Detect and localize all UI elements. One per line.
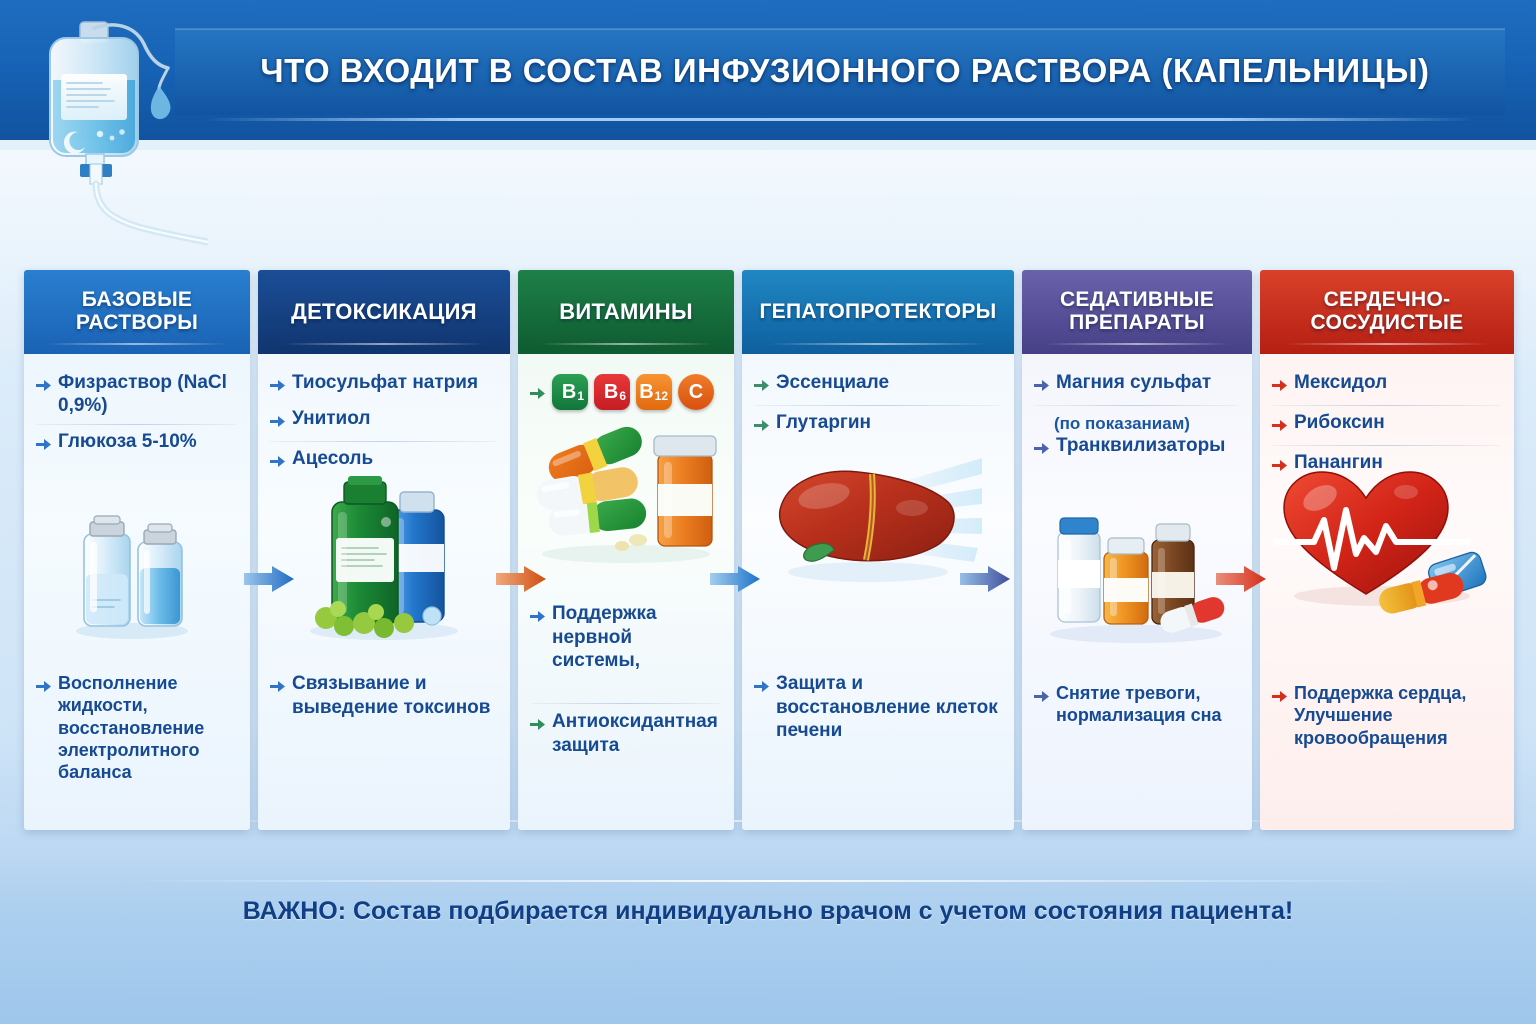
list-separator xyxy=(270,441,496,442)
list-item-label: Глюкоза 5-10% xyxy=(58,431,197,454)
list-item[interactable]: Мексидол xyxy=(1272,368,1500,404)
page-title: ЧТО ВХОДИТ В СОСТАВ ИНФУЗИОННОГО РАСТВОР… xyxy=(175,52,1515,90)
list-separator xyxy=(1272,405,1500,406)
list-item-label: Тиосульфат натрия xyxy=(292,372,478,395)
column-detox[interactable]: ДЕТОКСИКАЦИЯ Тиосульфат натрия Унитиол xyxy=(258,270,510,830)
column-title-line-1: СЕРДЕЧНО- xyxy=(1324,288,1451,311)
column-vitamins[interactable]: ВИТАМИНЫ B1 B6 B12 xyxy=(518,270,734,830)
vitamin-badge-b1[interactable]: B1 xyxy=(552,374,588,410)
list-item[interactable]: Транквилизаторы xyxy=(1034,434,1238,467)
arrow-bullet-icon xyxy=(36,435,51,458)
outcome-label: Связывание и выведение токсинов xyxy=(292,672,498,719)
column-header-detox: ДЕТОКСИКАЦИЯ xyxy=(258,270,510,354)
arrow-bullet-icon xyxy=(530,606,545,630)
list-item[interactable]: Тиосульфат натрия xyxy=(270,368,496,404)
connector-arrow-5 xyxy=(1216,562,1272,596)
list-item[interactable]: Глутаргин xyxy=(754,408,1000,444)
arrow-bullet-icon xyxy=(36,376,51,399)
list-item-label: Физраствор (NaCl 0,9%) xyxy=(58,372,236,418)
arrow-bullet-icon xyxy=(1034,439,1049,462)
two-glass-vials-illustration xyxy=(64,504,204,649)
outcome-sedatives: Снятие тревоги, нормализация сна xyxy=(1034,682,1240,727)
list-item-label: Рибоксин xyxy=(1294,412,1385,435)
footer-note: ВАЖНО: Состав подбирается индивидуально … xyxy=(0,897,1536,926)
column-sedatives[interactable]: СЕДАТИВНЫЕ ПРЕПАРАТЫ Магния сульфат (по … xyxy=(1022,270,1252,830)
vitamin-badge-b6[interactable]: B6 xyxy=(594,374,630,410)
column-header-base-solutions: БАЗОВЫЕ РАСТВОРЫ xyxy=(24,270,250,354)
list-item-label: Транквилизаторы xyxy=(1056,435,1225,458)
arrow-bullet-icon xyxy=(530,714,545,738)
arrow-bullet-icon xyxy=(1272,416,1287,439)
arrow-bullet-icon xyxy=(270,676,285,700)
footer-divider xyxy=(120,880,1416,882)
outcome-label: Поддержка сердца, Улучшение кровообращен… xyxy=(1294,682,1502,749)
arrow-bullet-icon xyxy=(270,452,285,475)
outcome-base-solutions: Восполнение жидкости, восстановление эле… xyxy=(36,672,238,784)
list-item[interactable]: Физраствор (NaCl 0,9%) xyxy=(36,368,236,423)
list-item[interactable]: Рибоксин xyxy=(1272,408,1500,444)
vitamin-badge-subscript: 1 xyxy=(577,390,584,402)
column-body-cardiovascular: Мексидол Рибоксин Панангин xyxy=(1260,354,1514,830)
list-item[interactable]: Глюкоза 5-10% xyxy=(36,427,236,463)
connector-arrow-4 xyxy=(960,562,1016,596)
vitamin-badge-c[interactable]: C xyxy=(678,374,714,410)
list-item-label: Эссенциале xyxy=(776,372,889,395)
list-separator xyxy=(1272,445,1500,446)
green-and-blue-bottles-illustration xyxy=(292,466,472,651)
vitamin-badge-b12[interactable]: B12 xyxy=(636,374,672,410)
vitamin-badge-letter: B xyxy=(604,380,618,404)
list-item[interactable]: Эссенциале xyxy=(754,368,1000,404)
outcome-label: Антиоксидантная защита xyxy=(552,710,722,757)
outcome-cardiovascular: Поддержка сердца, Улучшение кровообращен… xyxy=(1272,682,1502,749)
list-separator xyxy=(754,405,1000,406)
column-header-hepatoprotectors: ГЕПАТОПРОТЕКТОРЫ xyxy=(742,270,1014,354)
outcome-vitamins-1: Поддержка нервной системы, xyxy=(530,602,722,673)
connector-arrow-3 xyxy=(710,562,766,596)
arrow-bullet-icon xyxy=(1272,376,1287,399)
arrow-bullet-icon xyxy=(1034,686,1049,708)
column-title-line-1: ГЕПАТОПРОТЕКТОРЫ xyxy=(759,301,996,324)
header-underline xyxy=(205,118,1475,121)
column-header-vitamins: ВИТАМИНЫ xyxy=(518,270,734,354)
iv-drip-bag-icon xyxy=(18,14,208,274)
category-columns: БАЗОВЫЕ РАСТВОРЫ Физраствор (NaCl 0,9%) … xyxy=(24,270,1514,830)
arrow-bullet-icon xyxy=(1034,376,1049,399)
list-separator xyxy=(1034,405,1238,406)
column-title-line-1: ВИТАМИНЫ xyxy=(559,300,693,324)
list-item-label: Магния сульфат xyxy=(1056,372,1211,395)
arrow-bullet-icon xyxy=(754,676,769,700)
list-item-label: Мексидол xyxy=(1294,372,1387,395)
arrow-bullet-icon xyxy=(1272,686,1287,708)
arrow-bullet-icon xyxy=(754,416,769,439)
outcome-hepatoprotectors: Защита и восстановление клеток печени xyxy=(754,672,1002,743)
column-title-line-1: ДЕТОКСИКАЦИЯ xyxy=(291,300,477,324)
list-item[interactable]: Унитиол xyxy=(270,404,496,440)
connector-arrow-1 xyxy=(244,562,300,596)
outcome-label: Восполнение жидкости, восстановление эле… xyxy=(58,672,238,784)
outcome-label: Защита и восстановление клеток печени xyxy=(776,672,1002,743)
capsules-and-pill-bottle-illustration xyxy=(526,414,726,579)
arrow-bullet-icon xyxy=(754,376,769,399)
column-header-sedatives: СЕДАТИВНЫЕ ПРЕПАРАТЫ xyxy=(1022,270,1252,354)
arrow-bullet-icon xyxy=(270,376,285,399)
column-title-line-1: БАЗОВЫЕ xyxy=(82,288,193,311)
arrow-bullet-icon xyxy=(530,386,545,405)
assorted-medicine-bottles-illustration xyxy=(1036,494,1236,649)
list-separator xyxy=(36,424,236,425)
column-cardiovascular[interactable]: СЕРДЕЧНО- СОСУДИСТЫЕ Мексидол Рибоксин xyxy=(1260,270,1514,830)
outcome-label: Снятие тревоги, нормализация сна xyxy=(1056,682,1240,727)
outcome-vitamins-2: Антиоксидантная защита xyxy=(530,710,722,757)
column-title-line-2: ПРЕПАРАТЫ xyxy=(1069,311,1205,334)
outcome-detox: Связывание и выведение токсинов xyxy=(270,672,498,719)
heart-with-ecg-and-pills-illustration xyxy=(1270,464,1510,619)
connector-arrow-2 xyxy=(496,562,552,596)
outcome-label: Поддержка нервной системы, xyxy=(552,602,722,673)
column-title-line-2: РАСТВОРЫ xyxy=(76,311,198,334)
column-header-cardiovascular: СЕРДЕЧНО- СОСУДИСТЫЕ xyxy=(1260,270,1514,354)
column-title-line-2: СОСУДИСТЫЕ xyxy=(1311,311,1464,334)
column-base-solutions[interactable]: БАЗОВЫЕ РАСТВОРЫ Физраствор (NaCl 0,9%) … xyxy=(24,270,250,830)
arrow-bullet-icon xyxy=(270,412,285,435)
vitamin-badge-letter: B xyxy=(562,380,576,404)
vitamin-badge-subscript: 12 xyxy=(655,390,668,402)
column-hepatoprotectors[interactable]: ГЕПАТОПРОТЕКТОРЫ Эссенциале Глутаргин xyxy=(742,270,1014,830)
vitamin-badge-subscript: 6 xyxy=(619,390,626,402)
list-item-label: Унитиол xyxy=(292,408,370,431)
vitamin-badge-row[interactable]: B1 B6 B12 C xyxy=(530,368,720,415)
vitamin-badge-letter: C xyxy=(689,380,703,404)
column-body-base-solutions: Физраствор (NaCl 0,9%) Глюкоза 5-10% xyxy=(24,354,250,830)
vitamin-badge-letter: B xyxy=(639,380,653,404)
list-item[interactable]: Магния сульфат xyxy=(1034,368,1238,404)
arrow-bullet-icon xyxy=(36,676,51,698)
list-separator xyxy=(532,703,720,704)
column-title-line-1: СЕДАТИВНЫЕ xyxy=(1060,288,1214,311)
liver-organ-illustration xyxy=(762,452,982,597)
list-item-label: Глутаргин xyxy=(776,412,871,435)
sedatives-note: (по показаниам) xyxy=(1034,408,1238,434)
